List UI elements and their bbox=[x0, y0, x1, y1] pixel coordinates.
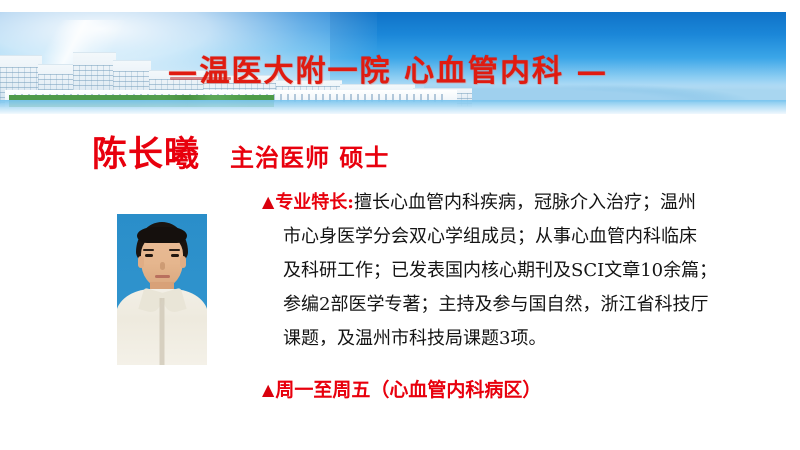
bio-line-4: 参编2部医学专著；主持及参与国自然，浙江省科技厅 bbox=[262, 288, 772, 322]
bio-line-5: 课题，及温州市科技局课题3项。 bbox=[262, 322, 772, 356]
doctor-name: 陈长曦 bbox=[92, 126, 200, 177]
schedule-text: 周一至周五（心血管内科病区） bbox=[275, 379, 541, 401]
schedule-line: ▲周一至周五（心血管内科病区） bbox=[262, 375, 541, 402]
triangle-bullet-icon: ▲ bbox=[262, 380, 274, 399]
banner-title: —温医大附一院 心血管内科 — bbox=[0, 46, 786, 90]
eyebrow-right bbox=[169, 249, 180, 251]
shirt-placket bbox=[160, 298, 165, 365]
bio-line-2: 市心身医学分会双心学组成员；从事心血管内科临床 bbox=[262, 220, 772, 254]
doctor-identity: 陈长曦 主治医师 硕士 bbox=[92, 126, 389, 177]
doctor-title: 主治医师 硕士 bbox=[230, 138, 389, 173]
mouth-shape bbox=[155, 275, 170, 278]
bio-paragraph: ▲专业特长:擅长心血管内科疾病，冠脉介入治疗；温州 市心身医学分会双心学组成员；… bbox=[262, 186, 772, 356]
bio-line-3: 及科研工作；已发表国内核心期刊及SCI文章10余篇； bbox=[262, 254, 772, 288]
eye-right bbox=[171, 254, 179, 257]
triangle-bullet-icon: ▲ bbox=[262, 185, 274, 219]
header-banner: —温医大附一院 心血管内科 — bbox=[0, 12, 786, 114]
bio-line-1: ▲专业特长:擅长心血管内科疾病，冠脉介入治疗；温州 bbox=[262, 186, 772, 220]
doctor-portrait-photo bbox=[117, 214, 207, 365]
fringe-shape bbox=[137, 227, 187, 243]
specialty-label: 专业特长: bbox=[275, 192, 354, 213]
nose-shape bbox=[160, 262, 165, 270]
water-band bbox=[0, 100, 786, 114]
bio-text-1: 擅长心血管内科疾病，冠脉介入治疗；温州 bbox=[354, 192, 696, 213]
ear-right bbox=[180, 256, 186, 268]
eyebrow-left bbox=[143, 249, 154, 251]
eye-left bbox=[145, 254, 153, 257]
ear-left bbox=[138, 256, 144, 268]
